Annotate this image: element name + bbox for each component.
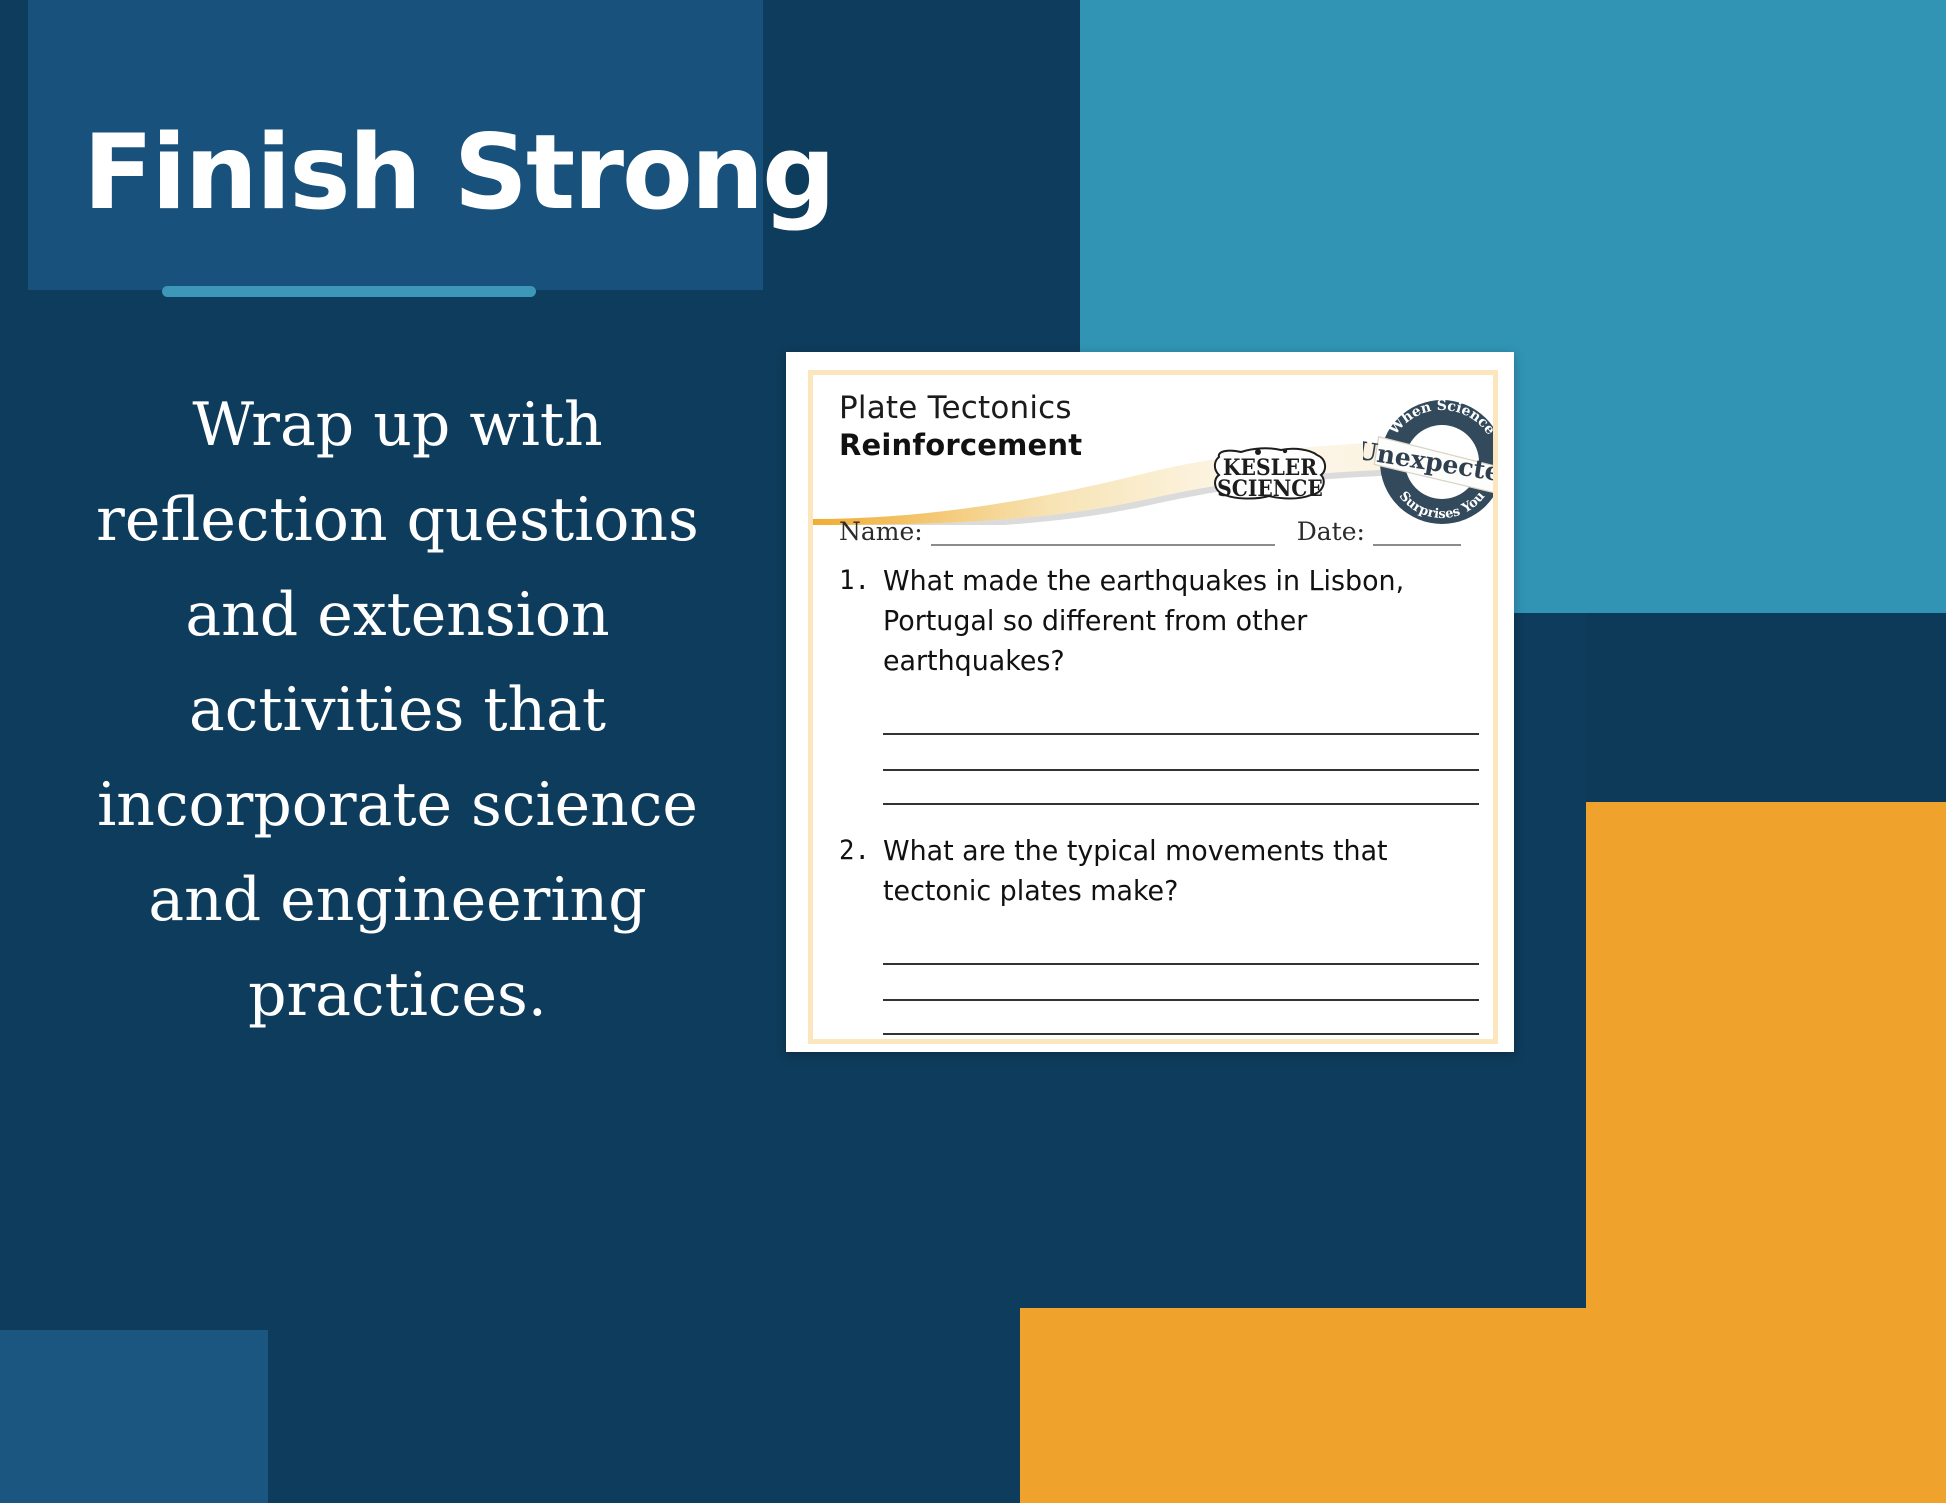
kesler-science-logo: KESLER SCIENCE <box>1211 447 1329 501</box>
question-item: 2. What are the typical movements that t… <box>839 831 1475 911</box>
answer-line[interactable] <box>883 929 1479 965</box>
title-underline-rule <box>162 286 536 297</box>
question-item: 1. What made the earthquakes in Lisbon, … <box>839 561 1475 681</box>
worksheet-page: Plate Tectonics Reinforcement <box>808 370 1498 1044</box>
name-label: Name: <box>839 517 923 546</box>
date-input-line[interactable] <box>1373 522 1461 546</box>
question-text: What made the earthquakes in Lisbon, Por… <box>883 561 1451 681</box>
logo-text-science: SCIENCE <box>1216 478 1325 501</box>
answer-line[interactable] <box>883 771 1479 805</box>
unexpected-badge: When Science Surprises You Unexpected! <box>1363 385 1498 535</box>
answer-lines[interactable] <box>883 699 1475 805</box>
title-block: Finish Strong <box>28 0 763 290</box>
name-date-row: Name: Date: <box>839 517 1473 546</box>
answer-line[interactable] <box>883 965 1479 1001</box>
question-list: 1. What made the earthquakes in Lisbon, … <box>839 561 1475 1044</box>
name-input-line[interactable] <box>931 522 1275 546</box>
navy-accent-block-right <box>1586 613 1946 802</box>
answer-line[interactable] <box>883 699 1479 735</box>
question-text: What are the typical movements that tect… <box>883 831 1451 911</box>
blue-accent-block-bottom-left <box>0 1330 268 1503</box>
question-number: 2. <box>839 831 881 911</box>
question-number: 1. <box>839 561 881 681</box>
answer-line[interactable] <box>883 735 1479 771</box>
answer-line[interactable] <box>883 1001 1479 1035</box>
answer-lines[interactable] <box>883 929 1475 1035</box>
orange-accent-block-bottom <box>1020 1308 1946 1503</box>
slide-body-text: Wrap up with reflection questions and ex… <box>60 378 735 1043</box>
worksheet-image: Plate Tectonics Reinforcement <box>786 352 1514 1052</box>
date-label: Date: <box>1297 517 1365 546</box>
page-title: Finish Strong <box>83 122 834 225</box>
